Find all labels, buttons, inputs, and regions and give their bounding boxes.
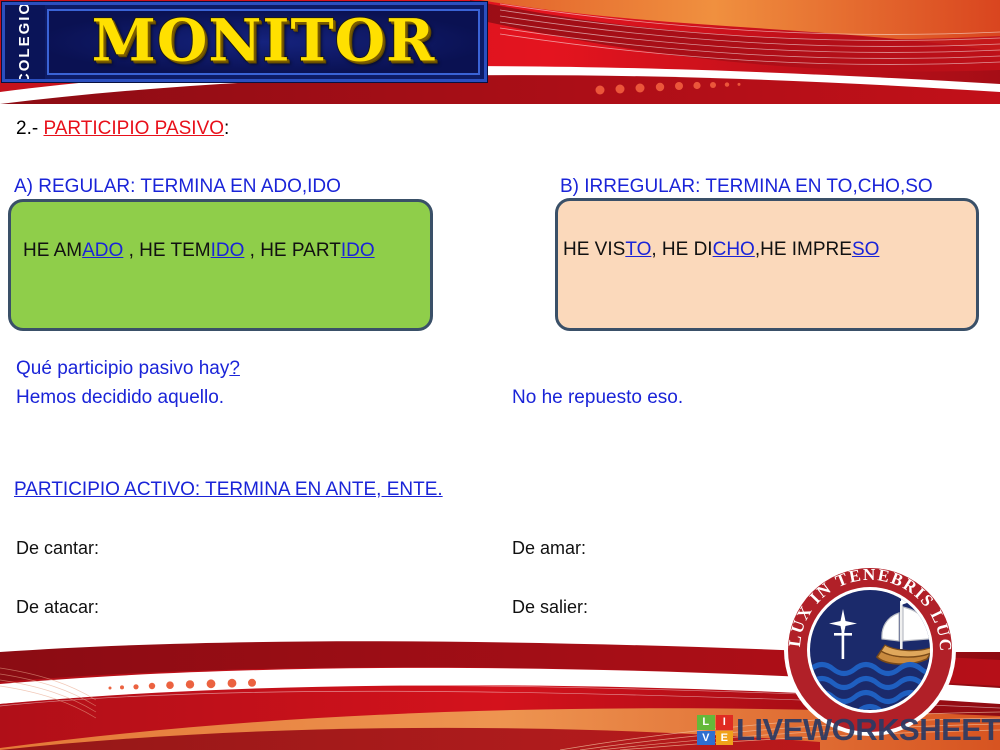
liveworksheets-wordmark: LIVEWORKSHEETS xyxy=(736,712,1000,748)
irregular-answer-box: HE VISTO, HE DICHO,HE IMPRESO xyxy=(555,198,979,331)
regular-answer-box: HE AMADO , HE TEMIDO , HE PARTIDO xyxy=(8,199,433,331)
seg: , HE TEM xyxy=(123,240,210,261)
colegio-monitor-logo: COLEGIO MONITOR xyxy=(2,2,487,82)
monitor-wordmark: MONITOR xyxy=(92,9,436,75)
logo-inner-frame: MONITOR xyxy=(47,9,480,75)
tile-v: V xyxy=(697,731,715,746)
question-right: No he repuesto eso. xyxy=(512,387,683,409)
colegio-label: COLEGIO xyxy=(17,2,34,82)
question-text: Qué participio pasivo hay xyxy=(16,358,229,379)
liveworksheets-logo-icon: L I V E xyxy=(697,715,733,745)
irregular-box-text: HE VISTO, HE DICHO,HE IMPRESO xyxy=(563,239,879,261)
seg-underlined: TO xyxy=(625,239,651,260)
seg: , HE PART xyxy=(244,240,340,261)
seg: HE VIS xyxy=(563,239,625,260)
seg: ,HE IMPRE xyxy=(755,239,852,260)
tile-l: L xyxy=(697,715,715,730)
seg-underlined: IDO xyxy=(341,240,375,261)
tile-e: E xyxy=(716,731,734,746)
page-title: 2.- PARTICIPIO PASIVO: xyxy=(16,118,229,140)
seg-underlined: IDO xyxy=(211,240,245,261)
exercise-de-amar: De amar: xyxy=(512,538,586,559)
active-participle-heading: PARTICIPIO ACTIVO: TERMINA EN ANTE, ENTE… xyxy=(14,479,443,501)
question-line-2: Hemos decidido aquello. xyxy=(16,387,224,409)
liveworksheets-watermark: L I V E LIVEWORKSHEETS xyxy=(697,711,1000,749)
worksheet-page: COLEGIO MONITOR 2.- PARTICIPIO PASIVO: A… xyxy=(0,0,1000,750)
question-line-1: Qué participio pasivo hay? xyxy=(16,358,240,380)
seg-underlined: CHO xyxy=(713,239,755,260)
seg: , HE DI xyxy=(651,239,712,260)
seg: HE AM xyxy=(23,240,82,261)
question-mark: ? xyxy=(229,358,240,379)
tile-i: I xyxy=(716,715,734,730)
exercise-de-salier: De salier: xyxy=(512,597,588,618)
exercise-de-cantar: De cantar: xyxy=(16,538,99,559)
seg-underlined: ADO xyxy=(82,240,123,261)
colegio-strip: COLEGIO xyxy=(5,5,45,79)
exercise-de-atacar: De atacar: xyxy=(16,597,99,618)
item-colon: : xyxy=(224,118,229,139)
seg-underlined: SO xyxy=(852,239,879,260)
irregular-heading: B) IRREGULAR: TERMINA EN TO,CHO,SO xyxy=(560,176,933,198)
regular-box-text: HE AMADO , HE TEMIDO , HE PARTIDO xyxy=(23,240,375,262)
item-title: PARTICIPIO PASIVO xyxy=(43,118,224,139)
item-number: 2.- xyxy=(16,118,38,139)
regular-heading: A) REGULAR: TERMINA EN ADO,IDO xyxy=(14,176,341,198)
